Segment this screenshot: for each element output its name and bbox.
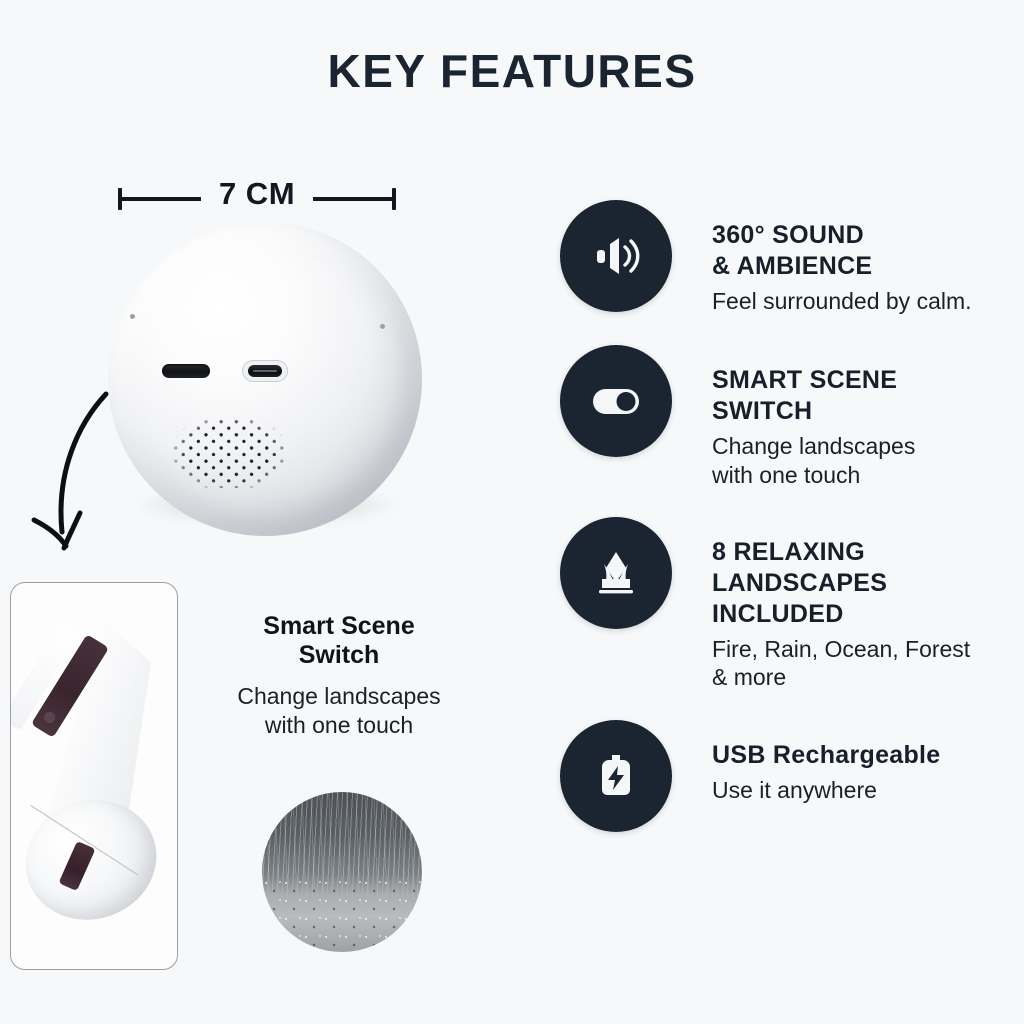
smart-scene-switch-detail-photo[interactable]	[10, 582, 178, 970]
feature-desc-line2: & more	[712, 664, 786, 690]
feature-desc: Feel surrounded by calm.	[712, 287, 972, 316]
feature-title-line1: 8 RELAXING	[712, 538, 865, 566]
rain-splash-ground	[262, 878, 422, 952]
feature-item-landscapes[interactable]: 8 RELAXING LANDSCAPES INCLUDED Fire, Rai…	[560, 517, 1012, 692]
speaker-grille	[172, 418, 287, 488]
dimension-indicator: 7 CM	[118, 176, 396, 220]
battery-bolt-icon	[560, 720, 672, 832]
dimension-label: 7 CM	[118, 176, 396, 212]
feature-text-landscapes: 8 RELAXING LANDSCAPES INCLUDED Fire, Rai…	[712, 517, 970, 692]
caption-block: Smart Scene Switch Change landscapes wit…	[196, 612, 482, 740]
pin-hole-right-icon	[380, 324, 385, 329]
feature-title-line3: INCLUDED	[712, 600, 844, 628]
feature-text-usb: USB Rechargeable Use it anywhere	[712, 720, 941, 805]
dimension-bar-right	[313, 197, 393, 201]
feature-list: 360° SOUND & AMBIENCE Feel surrounded by…	[560, 200, 1012, 858]
caption-sub-line2: with one touch	[196, 711, 482, 740]
rain-scene-photo	[262, 792, 422, 952]
feature-item-smart-scene[interactable]: SMART SCENE SWITCH Change landscapes wit…	[560, 345, 1012, 489]
page-title: KEY FEATURES	[0, 44, 1024, 98]
dimension-cap-right	[392, 188, 396, 210]
feature-title-line2: LANDSCAPES	[712, 569, 887, 597]
pin-hole-left-icon	[130, 314, 135, 319]
feature-desc-line1: Fire, Rain, Ocean, Forest	[712, 636, 970, 662]
usb-c-port	[242, 360, 288, 382]
caption-title-line2: Switch	[196, 641, 482, 670]
feature-title-line1: 360° SOUND	[712, 221, 864, 249]
feature-item-usb[interactable]: USB Rechargeable Use it anywhere	[560, 720, 1012, 832]
feature-text-smart-scene: SMART SCENE SWITCH Change landscapes wit…	[712, 345, 915, 489]
feature-item-sound[interactable]: 360° SOUND & AMBIENCE Feel surrounded by…	[560, 200, 1012, 315]
caption-sub-line1: Change landscapes	[196, 682, 482, 711]
feature-title-line2: & AMBIENCE	[712, 252, 872, 280]
curved-arrow-icon	[18, 380, 168, 565]
feature-text-sound: 360° SOUND & AMBIENCE Feel surrounded by…	[712, 200, 972, 315]
feature-desc: Use it anywhere	[712, 776, 941, 805]
feature-title-line1: SMART SCENE	[712, 366, 897, 394]
caption-title-line1: Smart Scene	[196, 612, 482, 641]
feature-desc-line1: Change landscapes	[712, 433, 915, 459]
toggle-switch-icon	[560, 345, 672, 457]
feature-title-line1: USB Rechargeable	[712, 741, 941, 769]
mountain-landscape-icon	[560, 517, 672, 629]
feature-desc-line2: with one touch	[712, 462, 860, 488]
feature-title-line2: SWITCH	[712, 397, 812, 425]
button-slot	[162, 364, 210, 378]
usb-c-port-opening	[248, 365, 282, 376]
infographic-canvas: KEY FEATURES 7 CM	[0, 0, 1024, 1024]
speaker-sound-icon	[560, 200, 672, 312]
